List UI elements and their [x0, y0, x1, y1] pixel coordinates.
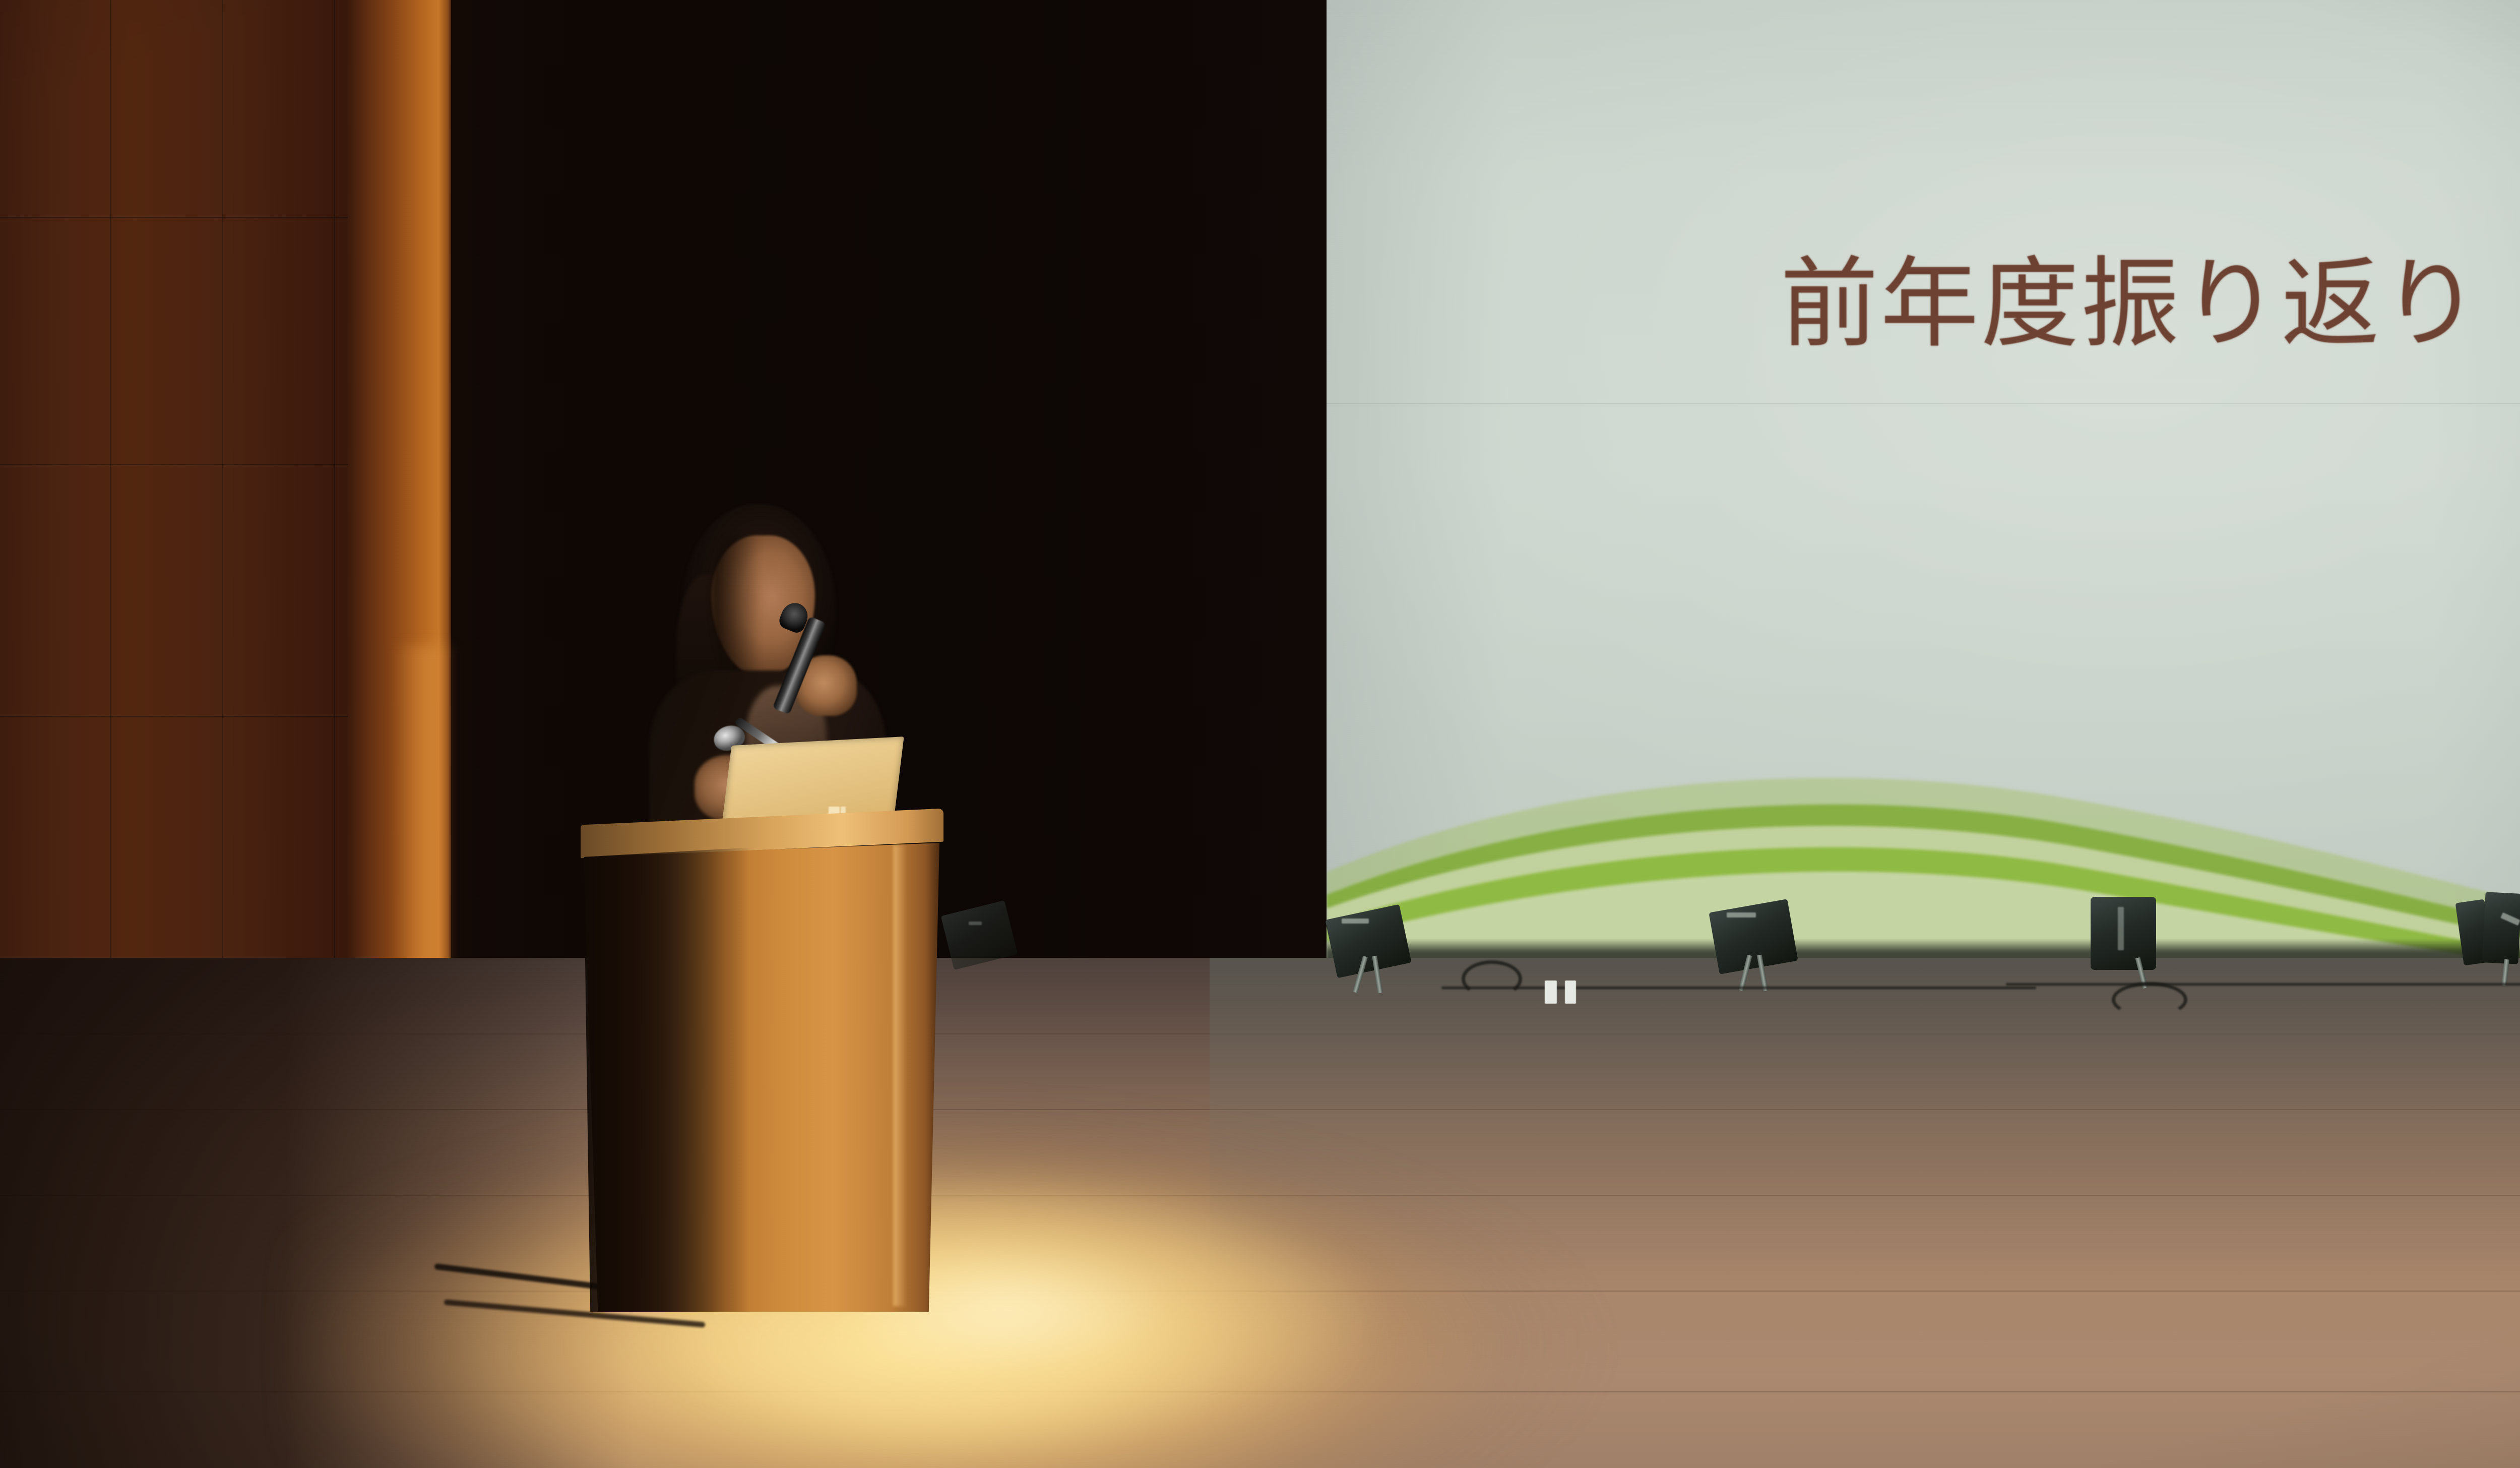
panel-seam-vertical [222, 0, 223, 1079]
lectern-edge-highlight [893, 845, 907, 1306]
face-shadow [712, 535, 760, 677]
panel-seam-vertical [110, 0, 111, 1079]
cable-loop [2112, 982, 2187, 1017]
floor-uplight-4 [2087, 895, 2182, 988]
lectern-shadow [584, 843, 750, 1312]
light-glint [2118, 907, 2124, 950]
floor-uplight-1 [942, 902, 1033, 978]
light-glint [1727, 912, 1756, 917]
light-housing [941, 900, 1018, 970]
stage-cable [1441, 986, 2036, 990]
cable-plug [1565, 981, 1576, 1004]
slide-title: 前年度振り返り [1780, 255, 2482, 353]
floor-uplight-2 [1331, 907, 1431, 993]
projection-screen: 前年度振り返り [1327, 0, 2520, 983]
lectern [581, 817, 943, 1346]
cable-loop [1462, 960, 1522, 998]
barn-door-light-5 [2454, 890, 2520, 983]
cable-plug [1545, 981, 1557, 1004]
light-glint [1342, 919, 1369, 924]
floor-dark-left [0, 958, 635, 1468]
panel-seam-vertical [334, 0, 335, 1079]
floor-uplight-3 [1714, 902, 1814, 991]
stage-photo-scene: 前年度振り返り [0, 0, 2520, 1468]
light-glint [969, 922, 982, 925]
floor-cool-shadow [1210, 958, 2520, 1468]
stage-cable [2006, 982, 2520, 987]
light-housing [2482, 892, 2520, 964]
light-housing [1709, 899, 1798, 974]
light-housing [1325, 904, 1411, 978]
